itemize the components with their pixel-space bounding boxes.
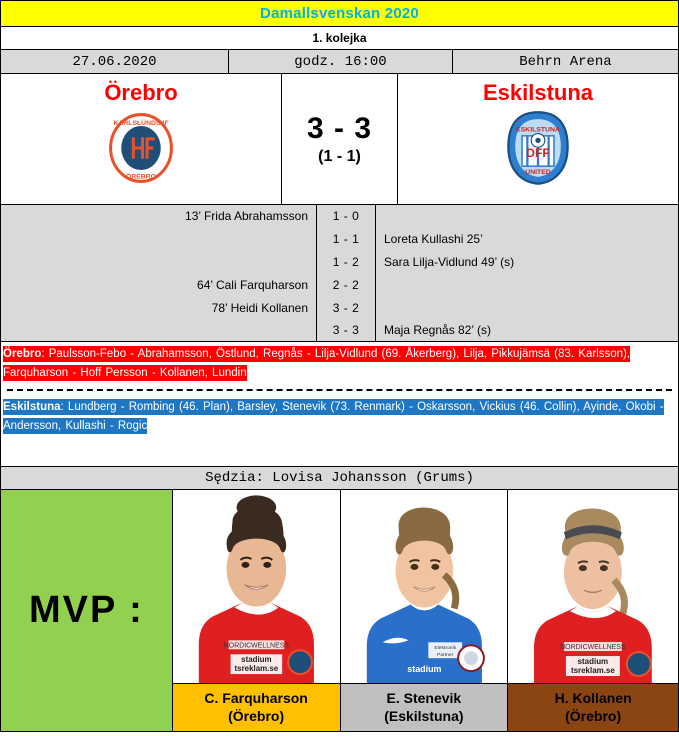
goal-score: 3 - 2	[316, 296, 376, 319]
mvp-name-bar: E. Stenevik (Eskilstuna)	[341, 683, 508, 731]
home-lineup-players: : Paulsson-Febo - Abrahamsson, Östlund, …	[3, 348, 630, 379]
match-time: godz. 16:00	[229, 50, 453, 73]
svg-text:ESKILSTUNA: ESKILSTUNA	[516, 126, 560, 133]
teams-scoreline: Örebro KARLSLUNDS IF ÖREBRO	[0, 74, 679, 205]
away-lineup-label: Eskilstuna	[3, 401, 61, 413]
goal-home-scorer: 64’ Cali Farquharson	[1, 278, 316, 292]
goal-away-scorer: Maja Regnås 82’ (s)	[376, 323, 678, 337]
table-row: 13’ Frida Abrahamsson 1 - 0	[1, 205, 678, 228]
mvp-section: MVP : NORDICWELLNESS	[0, 490, 679, 732]
goal-score: 1 - 1	[316, 228, 376, 251]
home-lineup-label: Örebro	[3, 348, 41, 360]
referee-row: Sędzia: Lovisa Johansson (Grums)	[0, 467, 679, 490]
svg-text:KARLSLUNDS IF: KARLSLUNDS IF	[113, 120, 168, 127]
svg-text:NORDICWELLNESS: NORDICWELLNESS	[560, 644, 626, 651]
match-date: 27.06.2020	[1, 50, 229, 73]
mvp-player-name: H. Kollanen	[555, 690, 632, 708]
svg-text:ÖREBRO: ÖREBRO	[126, 171, 157, 180]
goals-table: 13’ Frida Abrahamsson 1 - 0 1 - 1 Loreta…	[0, 205, 679, 342]
match-venue: Behrn Arena	[453, 50, 678, 73]
player-photo: NORDICWELLNESS stadium tsreklam.se	[173, 490, 340, 683]
away-team-name: Eskilstuna	[483, 81, 593, 104]
competition-banner: Damallsvenskan 2020	[0, 0, 679, 26]
away-lineup-players: : Lundberg - Rombing (46. Plan), Barsley…	[3, 401, 664, 432]
goal-home-scorer: 78’ Heidi Kollanen	[1, 301, 316, 315]
mvp-card-3[interactable]: NORDICWELLNESS stadium tsreklam.se H. Ko…	[508, 490, 678, 731]
svg-text:Elektronik: Elektronik	[434, 645, 456, 651]
svg-text:stadium: stadium	[241, 655, 271, 664]
eskilstuna-united-dff-crest: ESKILSTUNA DFF UNITED	[503, 110, 573, 191]
svg-text:NORDICWELLNESS: NORDICWELLNESS	[224, 642, 290, 649]
home-lineup: Örebro: Paulsson-Febo - Abrahamsson, Öst…	[3, 345, 676, 383]
svg-text:stadium: stadium	[578, 657, 609, 666]
goal-score: 1 - 2	[316, 251, 376, 274]
goal-score: 3 - 3	[316, 319, 376, 342]
mvp-label: MVP :	[29, 589, 144, 632]
mvp-label-panel: MVP :	[1, 490, 173, 731]
table-row: 1 - 1 Loreta Kullashi 25’	[1, 228, 678, 251]
goal-home-scorer: 13’ Frida Abrahamsson	[1, 209, 316, 223]
away-team-block: Eskilstuna ESKILSTUNA DFF	[398, 74, 678, 204]
mvp-player-club: (Örebro)	[228, 708, 284, 726]
table-row: 1 - 2 Sara Lilja-Vidlund 49’ (s)	[1, 251, 678, 274]
table-row: 78’ Heidi Kollanen 3 - 2	[1, 296, 678, 319]
goal-away-scorer: Sara Lilja-Vidlund 49’ (s)	[376, 255, 678, 269]
svg-text:tsreklam.se: tsreklam.se	[234, 664, 278, 673]
mvp-card-2[interactable]: Elektronik Partner stadium E. Stenevik (…	[341, 490, 509, 731]
svg-text:UNITED: UNITED	[525, 169, 550, 176]
goal-score: 1 - 0	[316, 205, 376, 228]
svg-text:tsreklam.se: tsreklam.se	[571, 666, 615, 675]
table-row: 3 - 3 Maja Regnås 82’ (s)	[1, 319, 678, 342]
home-team-block: Örebro KARLSLUNDS IF ÖREBRO	[1, 74, 281, 204]
halftime-score: (1 - 1)	[318, 148, 361, 166]
lineups-block: Örebro: Paulsson-Febo - Abrahamsson, Öst…	[0, 342, 679, 467]
svg-text:Partner: Partner	[437, 652, 454, 658]
player-photo: Elektronik Partner stadium	[341, 490, 508, 683]
match-meta-row: 27.06.2020 godz. 16:00 Behrn Arena	[0, 49, 679, 74]
final-score: 3 - 3	[307, 112, 372, 146]
player-photo: NORDICWELLNESS stadium tsreklam.se	[508, 490, 678, 683]
mvp-card-1[interactable]: NORDICWELLNESS stadium tsreklam.se C. Fa…	[173, 490, 341, 731]
mvp-player-name: C. Farquharson	[204, 690, 307, 708]
svg-text:stadium: stadium	[407, 664, 441, 674]
away-lineup: Eskilstuna: Lundberg - Rombing (46. Plan…	[3, 398, 676, 436]
lineup-divider	[7, 389, 672, 391]
mvp-player-club: (Eskilstuna)	[384, 708, 463, 726]
round-row: 1. kolejka	[0, 26, 679, 49]
mvp-name-bar: C. Farquharson (Örebro)	[173, 683, 340, 731]
mvp-player-club: (Örebro)	[565, 708, 621, 726]
competition-title: Damallsvenskan 2020	[260, 5, 419, 22]
home-team-name: Örebro	[104, 81, 177, 104]
scoreline: 3 - 3 (1 - 1)	[281, 74, 398, 204]
goal-away-scorer: Loreta Kullashi 25’	[376, 232, 678, 246]
mvp-player-name: E. Stenevik	[387, 690, 462, 708]
round-label: 1. kolejka	[312, 31, 366, 45]
karlslunds-if-orebro-crest: KARLSLUNDS IF ÖREBRO	[103, 110, 179, 191]
goal-score: 2 - 2	[316, 273, 376, 296]
svg-text:DFF: DFF	[526, 146, 550, 160]
mvp-name-bar: H. Kollanen (Örebro)	[508, 683, 678, 731]
table-row: 64’ Cali Farquharson 2 - 2	[1, 273, 678, 296]
match-report-sheet: Damallsvenskan 2020 1. kolejka 27.06.202…	[0, 0, 679, 736]
